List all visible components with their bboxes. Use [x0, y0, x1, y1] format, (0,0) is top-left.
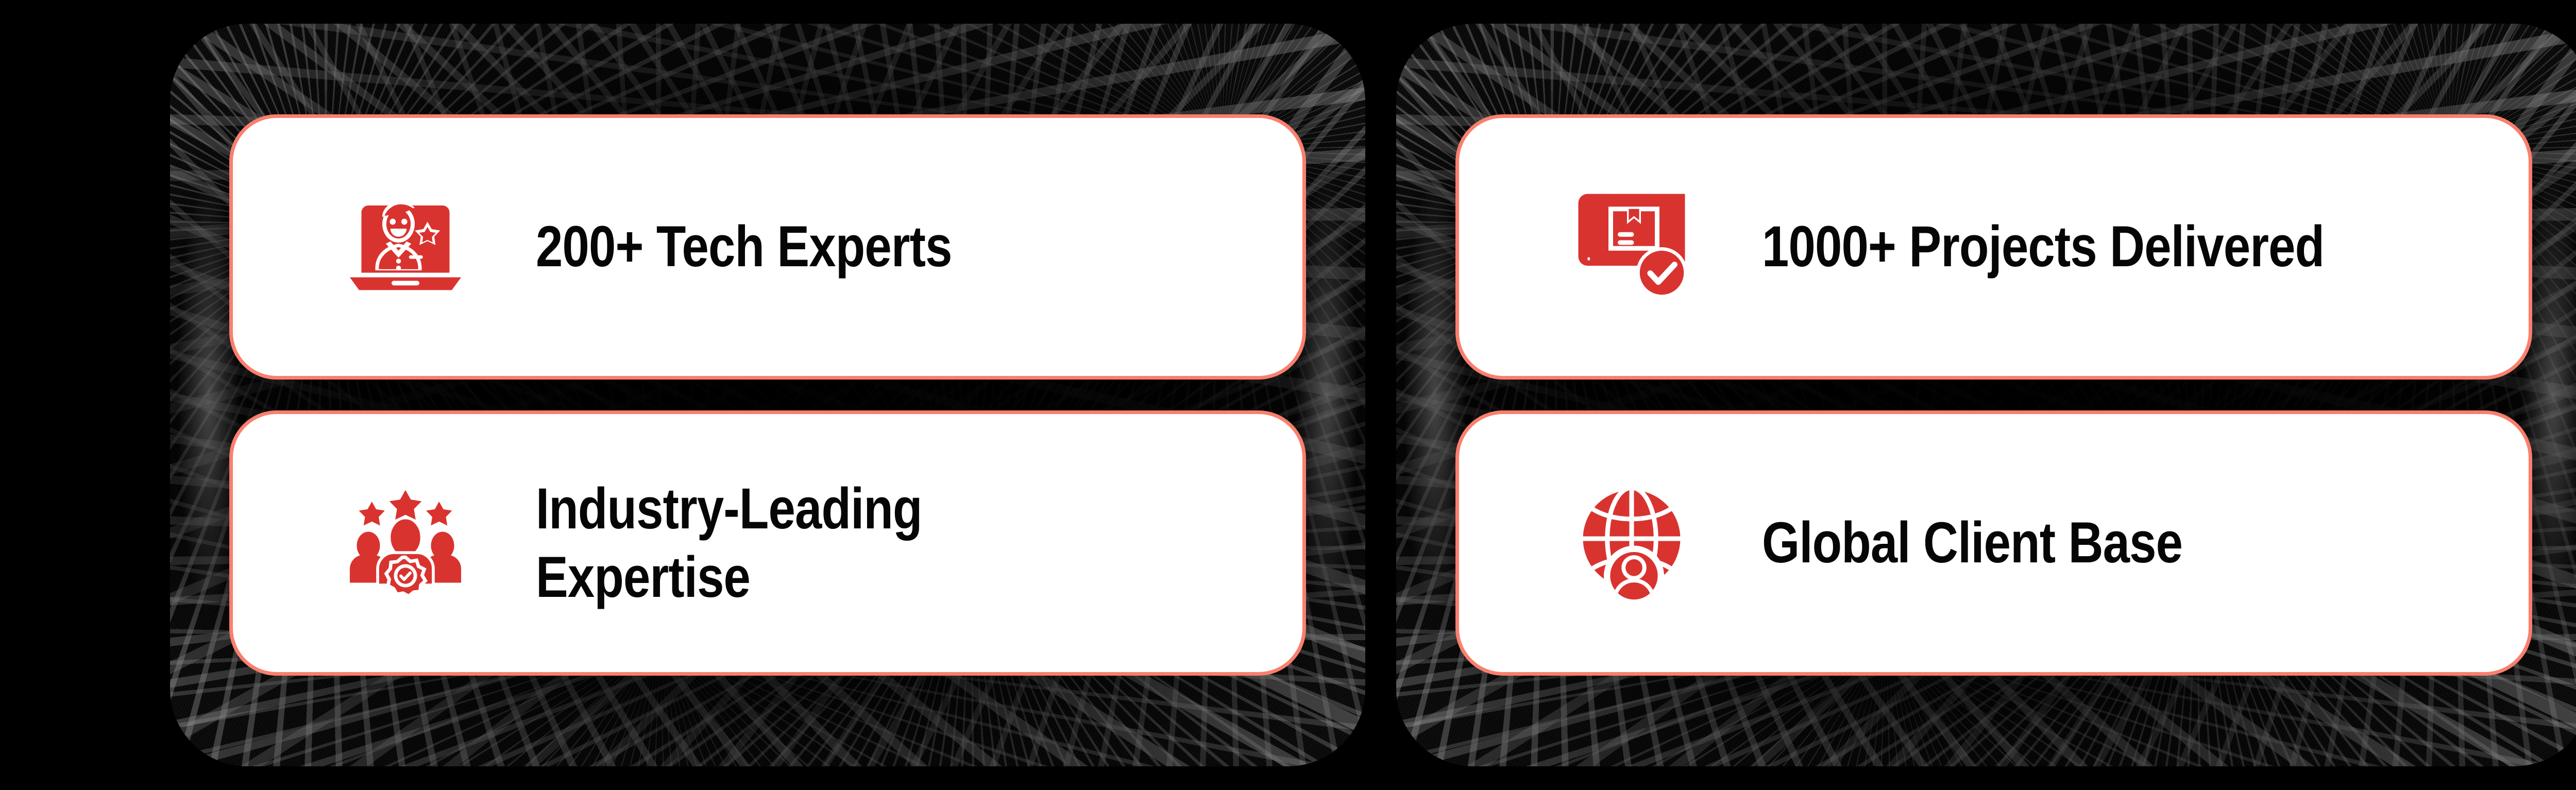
package-delivered-check-icon — [1562, 178, 1701, 317]
stat-card-label: 1000+ Projects Delivered — [1762, 213, 2324, 281]
stat-card-tech-experts[interactable]: 200+ Tech Experts — [229, 114, 1306, 380]
stat-card-projects-delivered[interactable]: 1000+ Projects Delivered — [1455, 114, 2532, 380]
team-stars-gear-icon — [336, 474, 475, 613]
stats-group-row: 200+ Tech Experts — [0, 0, 2576, 790]
stat-card-label: 200+ Tech Experts — [536, 213, 952, 281]
stat-card-industry-leading-expertise[interactable]: Industry-Leading Expertise — [229, 410, 1306, 676]
stats-group-panel-2: 1000+ Projects Delivered — [1396, 24, 2576, 766]
stats-group-panel-1: 200+ Tech Experts — [170, 24, 1365, 766]
stat-card-label: Global Client Base — [1762, 509, 2182, 577]
stats-banner: 200+ Tech Experts — [0, 0, 2576, 790]
stat-card-global-client-base[interactable]: Global Client Base — [1455, 410, 2532, 676]
stat-card-label: Industry-Leading Expertise — [536, 475, 922, 611]
tech-expert-laptop-icon — [336, 178, 475, 317]
globe-user-icon — [1562, 474, 1701, 613]
